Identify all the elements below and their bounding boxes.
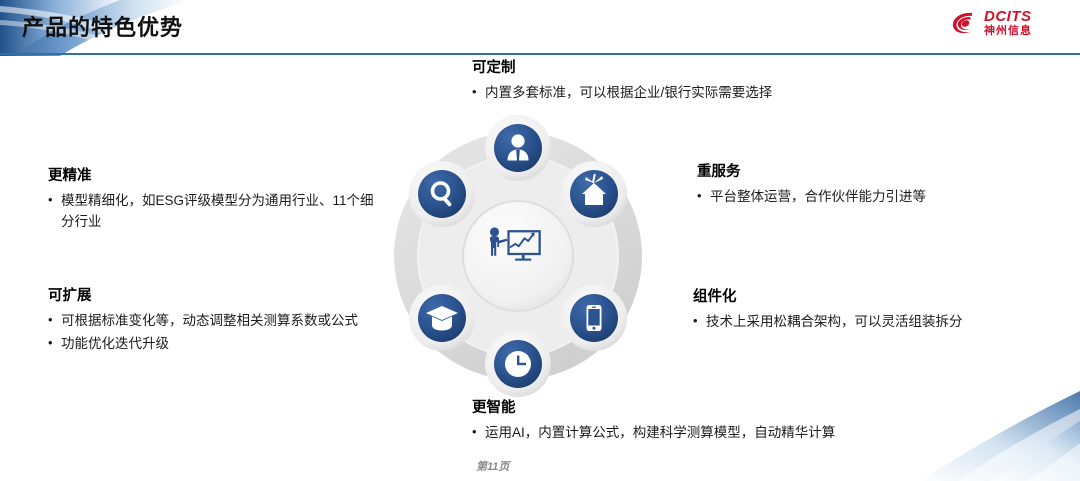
feature-title: 可定制 <box>472 60 902 77</box>
smartphone-icon <box>587 305 602 331</box>
slide-header: 产品的特色优势 DCITS 神州信息 <box>0 0 1080 56</box>
feature-bullet: 内置多套标准，可以根据企业/银行实际需要选择 <box>472 83 902 103</box>
feature-title: 更智能 <box>472 400 942 417</box>
feature-bullet-list: 运用AI，内置计算公式，构建科学测算模型，自动精华计算 <box>472 423 942 443</box>
diagram-badge-home[interactable] <box>561 161 627 227</box>
feature-title: 重服务 <box>697 164 1017 181</box>
dcits-logo-mark <box>950 10 980 36</box>
feature-block-componentized: 组件化 技术上采用松耦合架构，可以灵活组装拆分 <box>693 289 1023 335</box>
feature-title: 组件化 <box>693 289 1023 306</box>
diagram-badge-search[interactable] <box>409 161 475 227</box>
diagram-badge-clock[interactable] <box>485 331 551 397</box>
diagram-badge-education[interactable] <box>409 285 475 351</box>
feature-title: 更精准 <box>48 168 378 185</box>
company-logo: DCITS 神州信息 <box>950 6 1068 40</box>
feature-bullet: 平台整体运营，合作伙伴能力引进等 <box>697 187 1017 207</box>
clock-icon <box>505 351 531 377</box>
diagram-badge-user[interactable] <box>485 115 551 181</box>
feature-bullet-list: 模型精细化，如ESG评级模型分为通用行业、11个细分行业 <box>48 191 378 232</box>
feature-title: 可扩展 <box>48 288 378 305</box>
feature-block-service-focused: 重服务 平台整体运营，合作伙伴能力引进等 <box>697 164 1017 210</box>
slide-canvas: 产品的特色优势 DCITS 神州信息 可定制 内置多套标准，可以根据企业/银行实… <box>0 0 1080 481</box>
feature-bullet-list: 平台整体运营，合作伙伴能力引进等 <box>697 187 1017 207</box>
page-title: 产品的特色优势 <box>22 10 183 42</box>
diagram-center <box>462 200 574 312</box>
feature-bullet-list: 可根据标准变化等，动态调整相关测算系数或公式 功能优化迭代升级 <box>48 311 378 354</box>
feature-block-extensible: 可扩展 可根据标准变化等，动态调整相关测算系数或公式 功能优化迭代升级 <box>48 288 378 356</box>
page-number: 第11页 <box>476 458 509 474</box>
feature-block-smarter: 更智能 运用AI，内置计算公式，构建科学测算模型，自动精华计算 <box>472 400 942 446</box>
logo-name-cn: 神州信息 <box>984 26 1032 37</box>
feature-wheel-diagram <box>372 110 664 402</box>
feature-bullet: 运用AI，内置计算公式，构建科学测算模型，自动精华计算 <box>472 423 942 443</box>
feature-bullet-list: 内置多套标准，可以根据企业/银行实际需要选择 <box>472 83 902 103</box>
diagram-badge-mobile[interactable] <box>561 285 627 351</box>
feature-bullet-list: 技术上采用松耦合架构，可以灵活组装拆分 <box>693 312 1023 332</box>
feature-bullet: 技术上采用松耦合架构，可以灵活组装拆分 <box>693 312 1023 332</box>
feature-bullet: 可根据标准变化等，动态调整相关测算系数或公式 <box>48 311 378 331</box>
feature-bullet: 功能优化迭代升级 <box>48 334 378 354</box>
logo-name-en: DCITS <box>984 9 1032 24</box>
feature-block-customizable: 可定制 内置多套标准，可以根据企业/银行实际需要选择 <box>472 60 902 106</box>
header-underline <box>0 53 1080 55</box>
feature-block-more-accurate: 更精准 模型精细化，如ESG评级模型分为通用行业、11个细分行业 <box>48 168 378 234</box>
feature-bullet: 模型精细化，如ESG评级模型分为通用行业、11个细分行业 <box>48 191 378 232</box>
